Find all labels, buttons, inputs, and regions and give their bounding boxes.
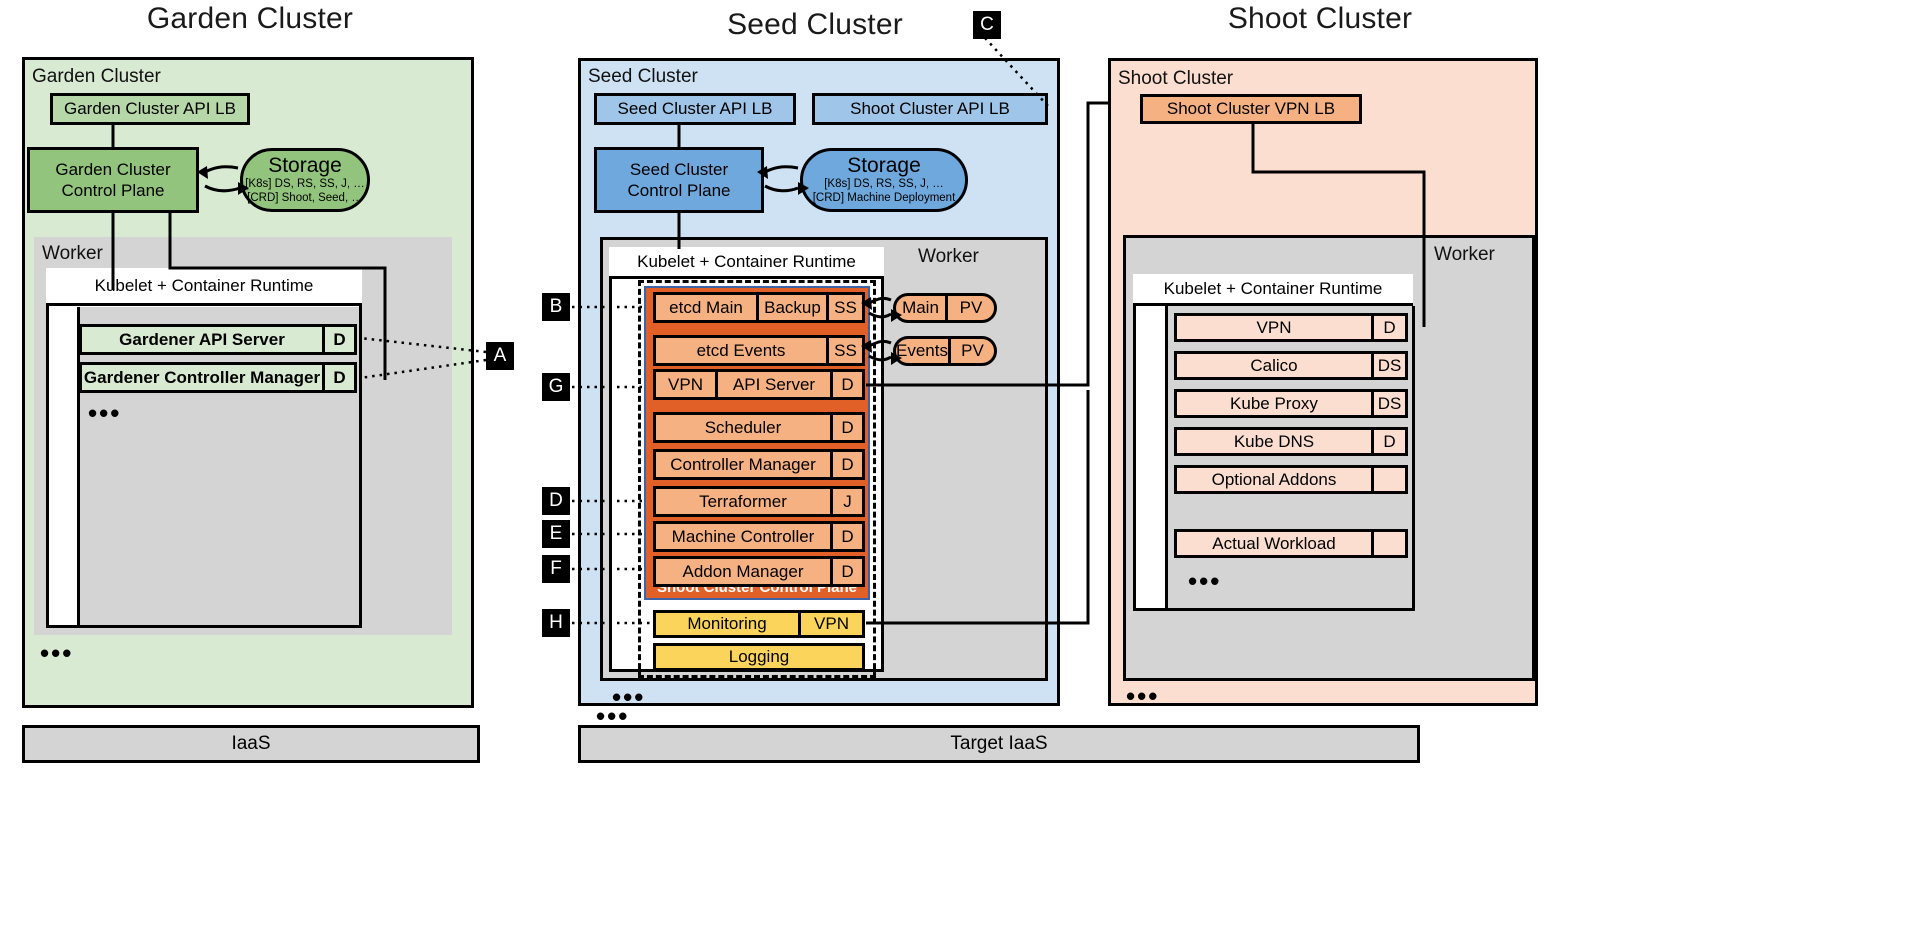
shoot-api-lb-label: Shoot Cluster API LB [815, 96, 1045, 122]
seed-pod-2-name: API Server [718, 372, 830, 397]
garden-kubelet-label: Kubelet + Container Runtime [95, 276, 314, 296]
shoot-vpn-lb-label: Shoot Cluster VPN LB [1143, 97, 1359, 121]
garden-storage-line1: [K8s] DS, RS, SS, J, … [243, 177, 367, 191]
shoot-pod-optional-addons[interactable]: Optional Addons [1174, 465, 1408, 494]
seed-volume-1-kind: PV [948, 339, 994, 363]
shoot-pod-1-kind: DS [1371, 354, 1405, 377]
garden-pod-area [77, 307, 362, 628]
seed-storage[interactable]: Storage [K8s] DS, RS, SS, J, … [CRD] Mac… [800, 148, 968, 212]
shoot-workload-name: Actual Workload [1177, 532, 1371, 555]
seed-storage-line2: [CRD] Machine Deployment [803, 191, 965, 205]
shoot-pod-3-kind: D [1371, 430, 1405, 453]
shoot-cluster-label: Shoot Cluster [1118, 68, 1233, 90]
seed-volume-0-name: Main [896, 298, 945, 318]
seed-storage-title: Storage [803, 155, 965, 177]
seed-pod-0-mid: Backup [756, 295, 826, 320]
seed-pod-etcd-events[interactable]: etcd Events SS [653, 335, 865, 366]
marker-G: G [542, 373, 570, 401]
seed-obs-1-name: Logging [656, 646, 862, 668]
shoot-pod-calico[interactable]: Calico DS [1174, 351, 1408, 380]
seed-pod-0-name: etcd Main [656, 295, 756, 320]
seed-pod-7-name: Addon Manager [656, 559, 830, 584]
seed-volume-events[interactable]: Events PV [893, 336, 997, 366]
garden-control-plane-line2: Control Plane [61, 181, 164, 200]
garden-worker-label: Worker [42, 243, 103, 265]
garden-pod-gardener-controller-manager[interactable]: Gardener Controller Manager D [79, 362, 357, 393]
shoot-api-lb[interactable]: Shoot Cluster API LB [812, 93, 1048, 125]
shoot-pod-2-name: Kube Proxy [1177, 392, 1371, 415]
seed-volume-1-name: Events [896, 341, 948, 361]
shoot-pod-3-name: Kube DNS [1177, 430, 1371, 453]
seed-obs-0-extra: VPN [798, 613, 862, 635]
garden-pod-1-kind: D [322, 365, 354, 390]
seed-pod-controller-manager[interactable]: Controller Manager D [653, 449, 865, 480]
seed-pod-5-kind: J [830, 489, 862, 514]
seed-kubelet-label-strip: Kubelet + Container Runtime [609, 247, 884, 279]
seed-pod-6-name: Machine Controller [656, 524, 830, 549]
seed-control-plane-line2: Control Plane [627, 181, 730, 200]
shoot-pod-0-kind: D [1371, 316, 1405, 339]
seed-pod-1-kind: SS [826, 338, 862, 363]
seed-api-lb-label: Seed Cluster API LB [597, 96, 793, 122]
seed-pod-etcd-main[interactable]: etcd Main Backup SS [653, 292, 865, 323]
garden-api-lb-label: Garden Cluster API LB [53, 96, 247, 122]
seed-pod-3-kind: D [830, 415, 862, 440]
seed-pod-machine-controller[interactable]: Machine Controller D [653, 521, 865, 552]
garden-cluster-label: Garden Cluster [32, 66, 161, 88]
seed-iaas: Target IaaS [578, 725, 1420, 763]
seed-pod-api-server[interactable]: VPN API Server D [653, 369, 865, 400]
seed-pod-4-name: Controller Manager [656, 452, 830, 477]
shoot-kubelet-label-strip: Kubelet + Container Runtime [1133, 274, 1413, 306]
garden-pod-1-name: Gardener Controller Manager [82, 365, 322, 390]
seed-pod-4-kind: D [830, 452, 862, 477]
shoot-pod-2-kind: DS [1371, 392, 1405, 415]
marker-F: F [542, 555, 570, 583]
shoot-kubelet-label: Kubelet + Container Runtime [1164, 279, 1383, 299]
garden-control-plane-line1: Garden Cluster [55, 160, 170, 179]
garden-pod-gardener-api-server[interactable]: Gardener API Server D [79, 324, 357, 355]
seed-pod-3-name: Scheduler [656, 415, 830, 440]
seed-volume-main[interactable]: Main PV [893, 293, 997, 323]
garden-pod-0-kind: D [322, 327, 354, 352]
seed-kubelet-label: Kubelet + Container Runtime [637, 252, 856, 272]
garden-storage-title: Storage [243, 155, 367, 177]
seed-pod-2-kind: D [830, 372, 862, 397]
seed-obs-0-name: Monitoring [656, 613, 798, 635]
seed-control-plane[interactable]: Seed Cluster Control Plane [594, 147, 764, 213]
title-seed: Seed Cluster [625, 8, 1005, 42]
garden-pods-ellipsis: ••• [88, 400, 121, 426]
shoot-workload-kind [1371, 532, 1405, 555]
seed-shoot-control-plane-group: Shoot Cluster Control Plane [644, 286, 870, 600]
marker-H: H [542, 609, 570, 637]
shoot-pod-kube-dns[interactable]: Kube DNS D [1174, 427, 1408, 456]
seed-pod-scheduler[interactable]: Scheduler D [653, 412, 865, 443]
shoot-pod-0-name: VPN [1177, 316, 1371, 339]
marker-D: D [542, 487, 570, 515]
title-shoot: Shoot Cluster [1130, 2, 1510, 36]
garden-storage[interactable]: Storage [K8s] DS, RS, SS, J, … [CRD] Sho… [240, 148, 370, 212]
seed-control-plane-line1: Seed Cluster [630, 160, 728, 179]
shoot-worker-label: Worker [1434, 244, 1495, 266]
title-garden: Garden Cluster [60, 2, 440, 36]
marker-B: B [542, 293, 570, 321]
marker-A: A [486, 342, 514, 370]
shoot-pod-kube-proxy[interactable]: Kube Proxy DS [1174, 389, 1408, 418]
seed-pod-monitoring[interactable]: Monitoring VPN [653, 610, 865, 638]
seed-pod-logging[interactable]: Logging [653, 643, 865, 671]
garden-workers-ellipsis: ••• [40, 640, 73, 666]
marker-E: E [542, 520, 570, 548]
garden-iaas: IaaS [22, 725, 480, 763]
garden-pod-0-name: Gardener API Server [82, 327, 322, 352]
shoot-vpn-lb[interactable]: Shoot Cluster VPN LB [1140, 94, 1362, 124]
shoot-pod-actual-workload[interactable]: Actual Workload [1174, 529, 1408, 558]
shoot-pod-4-name: Optional Addons [1177, 468, 1371, 491]
garden-api-lb[interactable]: Garden Cluster API LB [50, 93, 250, 125]
seed-storage-line1: [K8s] DS, RS, SS, J, … [803, 177, 965, 191]
seed-cluster-label: Seed Cluster [588, 66, 698, 88]
shoot-workers-ellipsis: ••• [1126, 683, 1159, 709]
garden-control-plane[interactable]: Garden Cluster Control Plane [27, 147, 199, 213]
shoot-pod-vpn[interactable]: VPN D [1174, 313, 1408, 342]
shoot-pod-1-name: Calico [1177, 354, 1371, 377]
seed-pod-6-kind: D [830, 524, 862, 549]
shoot-pod-4-kind [1371, 468, 1405, 491]
seed-pod-5-name: Terraformer [656, 489, 830, 514]
seed-pod-0-kind: SS [826, 295, 862, 320]
seed-pod-2-pre: VPN [656, 372, 718, 397]
seed-pod-7-kind: D [830, 559, 862, 584]
shoot-pods-ellipsis: ••• [1188, 568, 1221, 594]
garden-storage-line2: [CRD] Shoot, Seed, … [243, 191, 367, 205]
seed-worker-label: Worker [918, 246, 979, 268]
marker-C: C [973, 11, 1001, 39]
seed-api-lb[interactable]: Seed Cluster API LB [594, 93, 796, 125]
seed-volume-0-kind: PV [945, 296, 994, 320]
seed-pod-terraformer[interactable]: Terraformer J [653, 486, 865, 517]
seed-pod-1-name: etcd Events [656, 338, 826, 363]
seed-pod-addon-manager[interactable]: Addon Manager D [653, 556, 865, 587]
garden-kubelet-label-strip: Kubelet + Container Runtime [46, 268, 362, 306]
